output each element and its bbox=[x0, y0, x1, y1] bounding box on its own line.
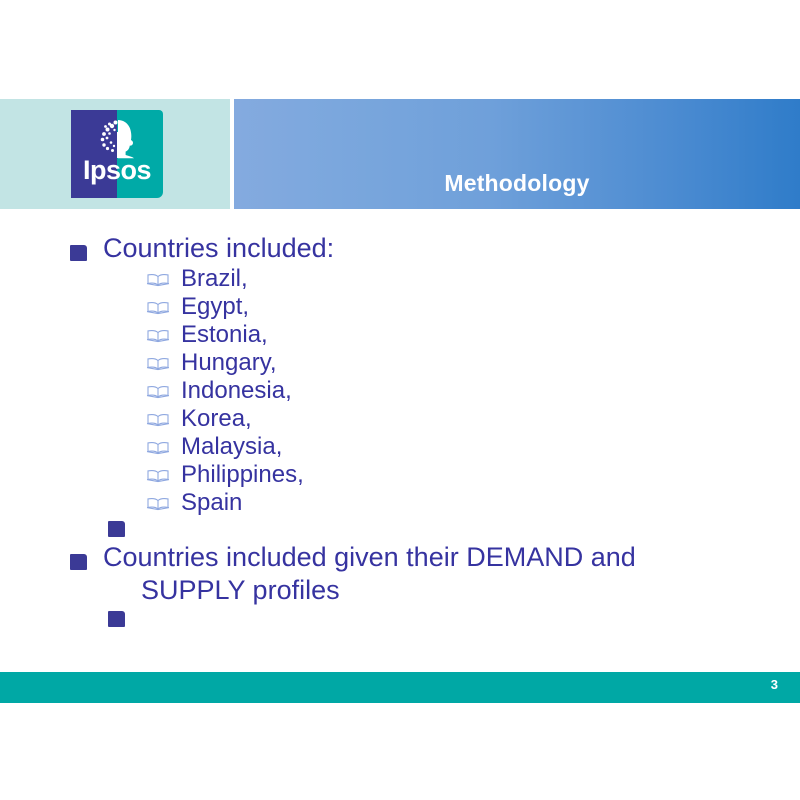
slide-footer: 3 bbox=[0, 672, 800, 703]
open-book-icon bbox=[146, 329, 170, 343]
open-book-icon bbox=[146, 469, 170, 483]
country-name: Korea, bbox=[181, 405, 252, 433]
bullet-demand-supply: Countries included given their DEMAND an… bbox=[0, 541, 800, 607]
country-list: Brazil, Egypt, bbox=[0, 265, 800, 517]
country-name: Philippines, bbox=[181, 461, 304, 489]
country-name: Spain bbox=[181, 489, 242, 517]
bullet-label: Countries included: bbox=[103, 232, 334, 265]
list-item: Estonia, bbox=[0, 321, 800, 349]
list-item: Brazil, bbox=[0, 265, 800, 293]
square-bullet-icon bbox=[108, 611, 125, 627]
square-bullet-icon bbox=[108, 521, 125, 537]
open-book-icon bbox=[146, 357, 170, 371]
bullet-countries-included: Countries included: bbox=[0, 232, 800, 265]
country-name: Egypt, bbox=[181, 293, 249, 321]
country-name: Estonia, bbox=[181, 321, 268, 349]
header-title-banner: Methodology bbox=[234, 99, 800, 209]
list-item: Philippines, bbox=[0, 461, 800, 489]
page-title: Methodology bbox=[234, 170, 800, 197]
open-book-icon bbox=[146, 413, 170, 427]
list-item: Spain bbox=[0, 489, 800, 517]
open-book-icon bbox=[146, 385, 170, 399]
list-item: Indonesia, bbox=[0, 377, 800, 405]
bullet-label-line2: SUPPLY profiles bbox=[103, 574, 636, 607]
open-book-icon bbox=[146, 497, 170, 511]
square-bullet-icon bbox=[70, 554, 87, 570]
country-name: Malaysia, bbox=[181, 433, 282, 461]
list-item: Malaysia, bbox=[0, 433, 800, 461]
country-name: Hungary, bbox=[181, 349, 277, 377]
logo-wordmark: Ipsos bbox=[71, 157, 163, 184]
bullet-label-line1: Countries included given their DEMAND an… bbox=[103, 542, 636, 572]
open-book-icon bbox=[146, 301, 170, 315]
open-book-icon bbox=[146, 441, 170, 455]
square-bullet-icon bbox=[70, 245, 87, 261]
bullet-label: Countries included given their DEMAND an… bbox=[103, 541, 636, 607]
empty-bullet-lower bbox=[0, 607, 800, 631]
open-book-icon bbox=[146, 273, 170, 287]
list-item: Korea, bbox=[0, 405, 800, 433]
ipsos-logo: Ipsos bbox=[71, 110, 163, 198]
page-number: 3 bbox=[771, 677, 778, 692]
list-item: Hungary, bbox=[0, 349, 800, 377]
slide-body: Countries included: Brazil, bbox=[0, 232, 800, 631]
empty-bullet-upper bbox=[0, 517, 800, 541]
list-item: Egypt, bbox=[0, 293, 800, 321]
country-name: Indonesia, bbox=[181, 377, 292, 405]
slide-canvas: Methodology bbox=[0, 0, 800, 800]
country-name: Brazil, bbox=[181, 265, 248, 293]
